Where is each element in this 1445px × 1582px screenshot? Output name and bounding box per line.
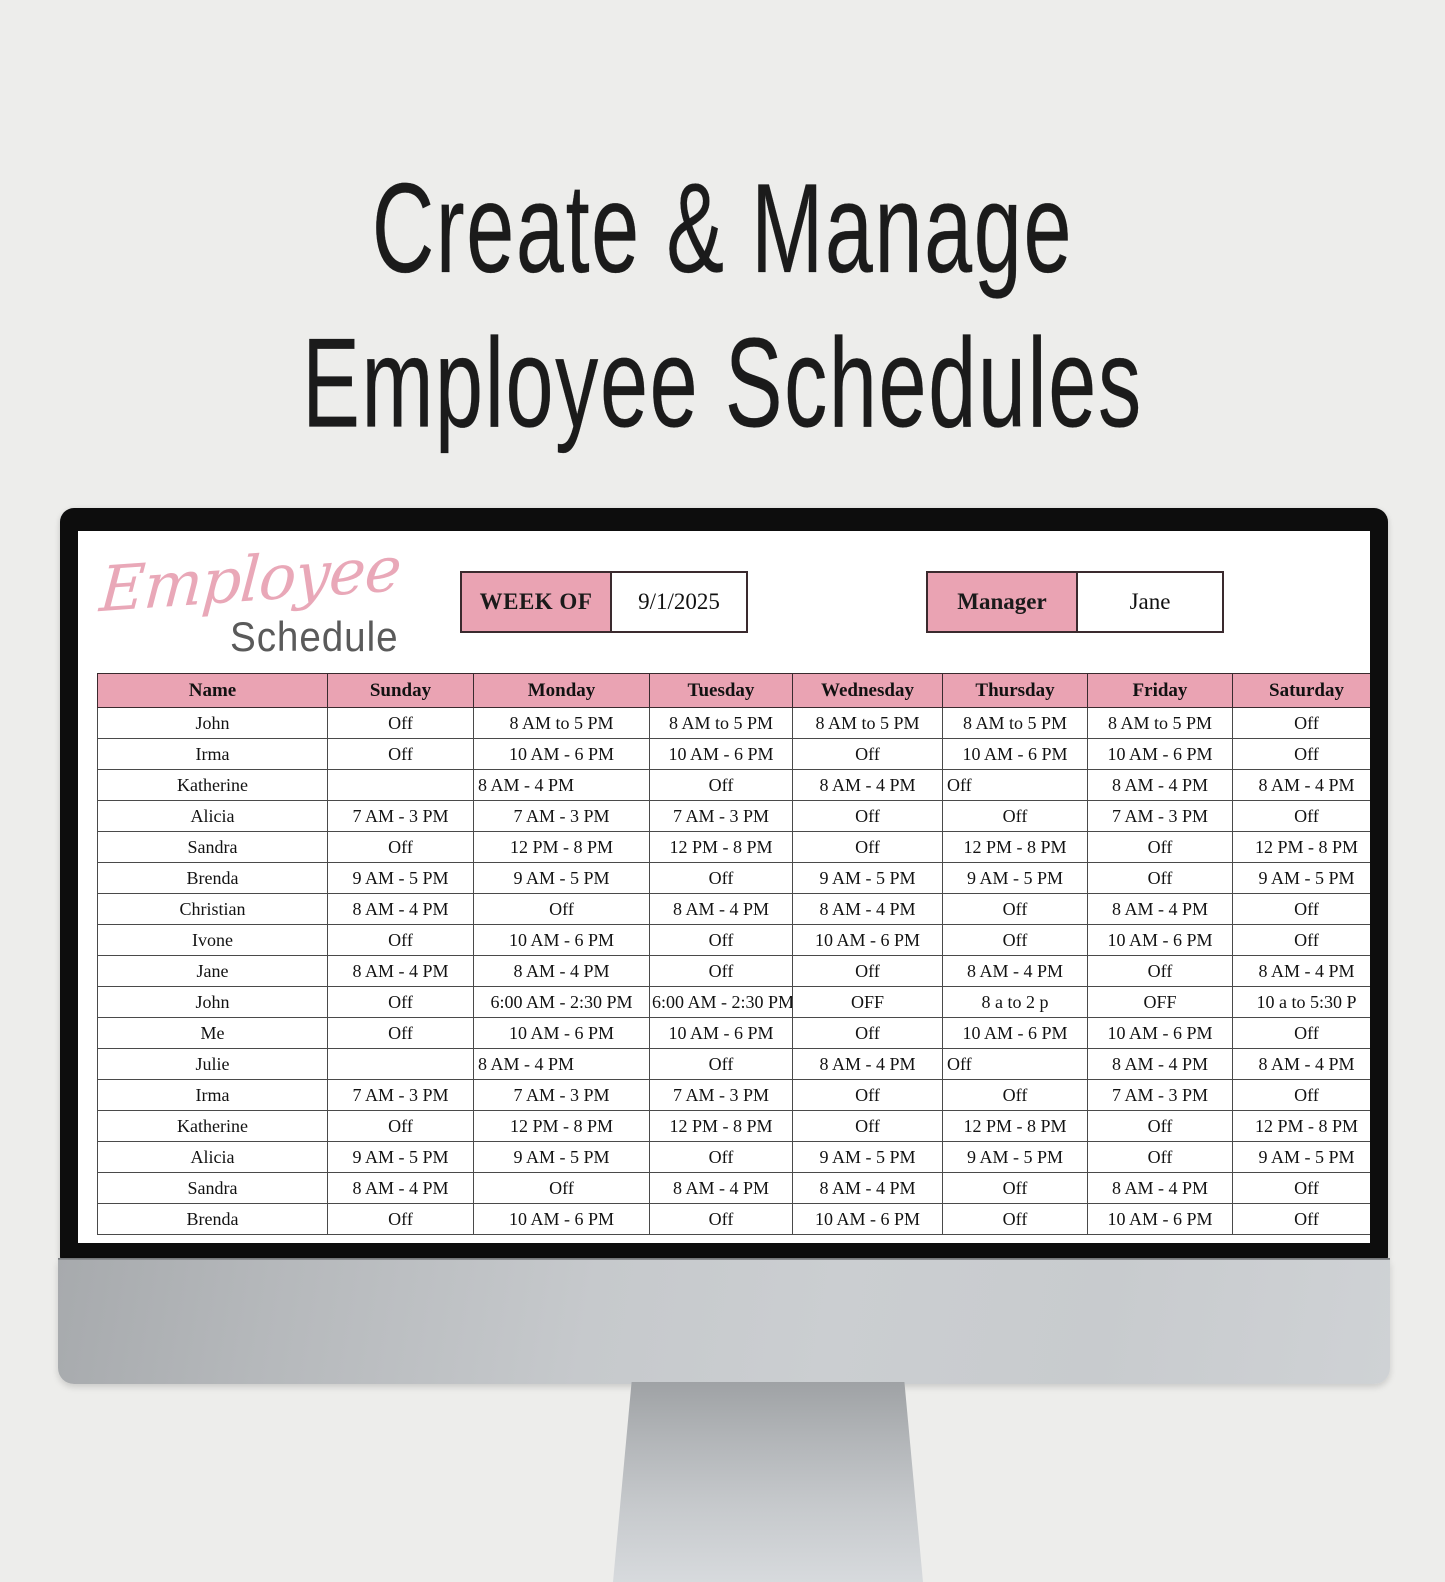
cell-shift-thursday[interactable]: 12 PM - 8 PM — [943, 832, 1088, 863]
cell-shift-friday[interactable]: 7 AM - 3 PM — [1088, 801, 1233, 832]
page-title: Create & Manage Employee Schedules — [0, 150, 1445, 460]
table-row: MeOff10 AM - 6 PM10 AM - 6 PMOff10 AM - … — [98, 1018, 1371, 1049]
cell-shift-wednesday[interactable]: OFF — [793, 987, 943, 1018]
cell-shift-saturday[interactable]: Off — [1233, 1173, 1371, 1204]
cell-shift-tuesday[interactable]: Off — [650, 863, 793, 894]
cell-shift-monday[interactable]: 10 AM - 6 PM — [474, 1204, 650, 1235]
cell-shift-sunday[interactable]: 8 AM - 4 PM — [328, 956, 474, 987]
cell-shift-thursday[interactable]: Off — [943, 770, 1088, 801]
cell-shift-sunday[interactable]: Off — [328, 1018, 474, 1049]
cell-shift-monday[interactable]: 12 PM - 8 PM — [474, 1111, 650, 1142]
cell-shift-friday[interactable]: Off — [1088, 956, 1233, 987]
cell-shift-friday[interactable]: Off — [1088, 1111, 1233, 1142]
cell-employee-name[interactable]: Katherine — [98, 770, 328, 801]
cell-shift-wednesday[interactable]: 10 AM - 6 PM — [793, 925, 943, 956]
cell-shift-saturday[interactable]: Off — [1233, 1080, 1371, 1111]
cell-shift-thursday[interactable]: 9 AM - 5 PM — [943, 1142, 1088, 1173]
column-header-sunday[interactable]: Sunday — [328, 674, 474, 708]
cell-employee-name[interactable]: Sandra — [98, 1173, 328, 1204]
cell-shift-tuesday[interactable]: Off — [650, 956, 793, 987]
cell-shift-wednesday[interactable]: Off — [793, 1111, 943, 1142]
cell-shift-tuesday[interactable]: 6:00 AM - 2:30 PM — [650, 987, 793, 1018]
cell-shift-friday[interactable]: Off — [1088, 863, 1233, 894]
manager-label: Manager — [928, 573, 1078, 631]
cell-shift-wednesday[interactable]: 8 AM to 5 PM — [793, 708, 943, 739]
cell-shift-saturday[interactable]: 8 AM - 4 PM — [1233, 1049, 1371, 1080]
cell-shift-monday[interactable]: Off — [474, 894, 650, 925]
cell-shift-wednesday[interactable]: Off — [793, 1018, 943, 1049]
cell-shift-sunday[interactable] — [328, 770, 474, 801]
cell-shift-sunday[interactable]: 7 AM - 3 PM — [328, 1080, 474, 1111]
cell-shift-thursday[interactable]: 12 PM - 8 PM — [943, 1111, 1088, 1142]
cell-shift-thursday[interactable]: Off — [943, 1080, 1088, 1111]
manager-field-group: Manager Jane — [926, 571, 1224, 633]
table-row: Brenda9 AM - 5 PM9 AM - 5 PMOff9 AM - 5 … — [98, 863, 1371, 894]
cell-shift-tuesday[interactable]: 7 AM - 3 PM — [650, 801, 793, 832]
cell-shift-friday[interactable]: 10 AM - 6 PM — [1088, 1204, 1233, 1235]
cell-shift-tuesday[interactable]: 12 PM - 8 PM — [650, 832, 793, 863]
cell-shift-saturday[interactable]: Off — [1233, 801, 1371, 832]
column-header-tuesday[interactable]: Tuesday — [650, 674, 793, 708]
column-header-thursday[interactable]: Thursday — [943, 674, 1088, 708]
column-header-monday[interactable]: Monday — [474, 674, 650, 708]
cell-shift-saturday[interactable]: Off — [1233, 708, 1371, 739]
cell-shift-saturday[interactable]: 12 PM - 8 PM — [1233, 832, 1371, 863]
table-row: Jane8 AM - 4 PM8 AM - 4 PMOffOff8 AM - 4… — [98, 956, 1371, 987]
cell-shift-saturday[interactable]: 8 AM - 4 PM — [1233, 770, 1371, 801]
cell-shift-tuesday[interactable]: 8 AM - 4 PM — [650, 894, 793, 925]
cell-shift-wednesday[interactable]: 8 AM - 4 PM — [793, 1049, 943, 1080]
cell-shift-thursday[interactable]: Off — [943, 925, 1088, 956]
cell-employee-name[interactable]: Julie — [98, 1049, 328, 1080]
cell-shift-sunday[interactable]: Off — [328, 739, 474, 770]
column-header-wednesday[interactable]: Wednesday — [793, 674, 943, 708]
table-header-row: NameSundayMondayTuesdayWednesdayThursday… — [98, 674, 1371, 708]
cell-shift-monday[interactable]: 12 PM - 8 PM — [474, 832, 650, 863]
cell-shift-saturday[interactable]: Off — [1233, 1018, 1371, 1049]
cell-shift-monday[interactable]: 7 AM - 3 PM — [474, 1080, 650, 1111]
cell-shift-tuesday[interactable]: 10 AM - 6 PM — [650, 1018, 793, 1049]
monitor-screen: Employee Schedule WEEK OF 9/1/2025 Manag… — [78, 531, 1370, 1243]
cell-shift-tuesday[interactable]: 8 AM to 5 PM — [650, 708, 793, 739]
cell-shift-saturday[interactable]: 10 a to 5:30 P — [1233, 987, 1371, 1018]
monitor-chin — [58, 1260, 1390, 1384]
table-row: Alicia7 AM - 3 PM7 AM - 3 PM7 AM - 3 PMO… — [98, 801, 1371, 832]
cell-employee-name[interactable]: Jane — [98, 956, 328, 987]
cell-employee-name[interactable]: Brenda — [98, 1204, 328, 1235]
schedule-table: NameSundayMondayTuesdayWednesdayThursday… — [97, 673, 1370, 1235]
cell-shift-wednesday[interactable]: Off — [793, 832, 943, 863]
cell-shift-sunday[interactable]: Off — [328, 987, 474, 1018]
monitor-stand-neck — [613, 1382, 923, 1582]
cell-shift-monday[interactable]: 10 AM - 6 PM — [474, 925, 650, 956]
cell-employee-name[interactable]: Me — [98, 1018, 328, 1049]
week-of-label: WEEK OF — [462, 573, 612, 631]
cell-shift-tuesday[interactable]: Off — [650, 1142, 793, 1173]
cell-shift-saturday[interactable]: 12 PM - 8 PM — [1233, 1111, 1371, 1142]
cell-shift-sunday[interactable] — [328, 1049, 474, 1080]
cell-shift-monday[interactable]: 8 AM - 4 PM — [474, 770, 650, 801]
monitor-mockup: Employee Schedule WEEK OF 9/1/2025 Manag… — [60, 508, 1388, 1260]
cell-shift-thursday[interactable]: Off — [943, 1204, 1088, 1235]
cell-shift-sunday[interactable]: 9 AM - 5 PM — [328, 863, 474, 894]
cell-shift-tuesday[interactable]: 7 AM - 3 PM — [650, 1080, 793, 1111]
cell-employee-name[interactable]: Christian — [98, 894, 328, 925]
cell-shift-friday[interactable]: Off — [1088, 1142, 1233, 1173]
cell-shift-monday[interactable]: 10 AM - 6 PM — [474, 739, 650, 770]
column-header-name[interactable]: Name — [98, 674, 328, 708]
cell-shift-friday[interactable]: 10 AM - 6 PM — [1088, 739, 1233, 770]
cell-shift-saturday[interactable]: Off — [1233, 925, 1371, 956]
cell-shift-thursday[interactable]: Off — [943, 1173, 1088, 1204]
cell-shift-wednesday[interactable]: 8 AM - 4 PM — [793, 770, 943, 801]
cell-shift-sunday[interactable]: Off — [328, 1111, 474, 1142]
cell-shift-friday[interactable]: 8 AM - 4 PM — [1088, 894, 1233, 925]
cell-shift-wednesday[interactable]: Off — [793, 956, 943, 987]
cell-shift-sunday[interactable]: 7 AM - 3 PM — [328, 801, 474, 832]
cell-employee-name[interactable]: Alicia — [98, 1142, 328, 1173]
cell-shift-saturday[interactable]: Off — [1233, 739, 1371, 770]
cell-employee-name[interactable]: Alicia — [98, 801, 328, 832]
cell-shift-tuesday[interactable]: Off — [650, 925, 793, 956]
cell-shift-sunday[interactable]: 9 AM - 5 PM — [328, 1142, 474, 1173]
cell-shift-wednesday[interactable]: 8 AM - 4 PM — [793, 894, 943, 925]
cell-shift-monday[interactable]: Off — [474, 1173, 650, 1204]
cell-shift-tuesday[interactable]: Off — [650, 1049, 793, 1080]
cell-shift-saturday[interactable]: Off — [1233, 1204, 1371, 1235]
cell-shift-wednesday[interactable]: 9 AM - 5 PM — [793, 1142, 943, 1173]
cell-shift-wednesday[interactable]: 9 AM - 5 PM — [793, 863, 943, 894]
cell-shift-wednesday[interactable]: 10 AM - 6 PM — [793, 1204, 943, 1235]
week-of-field-group: WEEK OF 9/1/2025 — [460, 571, 748, 633]
table-row: Katherine8 AM - 4 PMOff8 AM - 4 PMOff8 A… — [98, 770, 1371, 801]
cell-shift-thursday[interactable]: 10 AM - 6 PM — [943, 1018, 1088, 1049]
spreadsheet-header-area: Employee Schedule WEEK OF 9/1/2025 Manag… — [78, 531, 1370, 673]
cell-shift-monday[interactable]: 6:00 AM - 2:30 PM — [474, 987, 650, 1018]
cell-employee-name[interactable]: Irma — [98, 739, 328, 770]
cell-employee-name[interactable]: Ivone — [98, 925, 328, 956]
cell-shift-monday[interactable]: 8 AM to 5 PM — [474, 708, 650, 739]
cell-shift-thursday[interactable]: 8 AM - 4 PM — [943, 956, 1088, 987]
logo-subtitle-text: Schedule — [230, 615, 398, 659]
cell-shift-wednesday[interactable]: Off — [793, 801, 943, 832]
table-row: BrendaOff10 AM - 6 PMOff10 AM - 6 PMOff1… — [98, 1204, 1371, 1235]
cell-shift-tuesday[interactable]: 8 AM - 4 PM — [650, 1173, 793, 1204]
cell-employee-name[interactable]: John — [98, 708, 328, 739]
cell-shift-sunday[interactable]: 8 AM - 4 PM — [328, 1173, 474, 1204]
cell-shift-sunday[interactable]: 8 AM - 4 PM — [328, 894, 474, 925]
cell-employee-name[interactable]: Katherine — [98, 1111, 328, 1142]
cell-shift-saturday[interactable]: Off — [1233, 894, 1371, 925]
table-row: JohnOff8 AM to 5 PM8 AM to 5 PM8 AM to 5… — [98, 708, 1371, 739]
cell-shift-monday[interactable]: 7 AM - 3 PM — [474, 801, 650, 832]
table-row: IvoneOff10 AM - 6 PMOff10 AM - 6 PMOff10… — [98, 925, 1371, 956]
cell-shift-monday[interactable]: 8 AM - 4 PM — [474, 956, 650, 987]
cell-shift-friday[interactable]: 7 AM - 3 PM — [1088, 1080, 1233, 1111]
table-row: IrmaOff10 AM - 6 PM10 AM - 6 PMOff10 AM … — [98, 739, 1371, 770]
cell-employee-name[interactable]: John — [98, 987, 328, 1018]
cell-shift-thursday[interactable]: 9 AM - 5 PM — [943, 863, 1088, 894]
cell-shift-thursday[interactable]: Off — [943, 801, 1088, 832]
schedule-table-body: JohnOff8 AM to 5 PM8 AM to 5 PM8 AM to 5… — [98, 708, 1371, 1235]
employee-schedule-logo: Employee Schedule — [100, 559, 420, 659]
spreadsheet: Employee Schedule WEEK OF 9/1/2025 Manag… — [78, 531, 1370, 1243]
cell-shift-friday[interactable]: 8 AM - 4 PM — [1088, 770, 1233, 801]
cell-shift-thursday[interactable]: 8 a to 2 p — [943, 987, 1088, 1018]
cell-shift-sunday[interactable]: Off — [328, 832, 474, 863]
cell-shift-monday[interactable]: 10 AM - 6 PM — [474, 1018, 650, 1049]
cell-shift-tuesday[interactable]: 10 AM - 6 PM — [650, 739, 793, 770]
week-of-input[interactable]: 9/1/2025 — [612, 573, 746, 631]
cell-shift-monday[interactable]: 9 AM - 5 PM — [474, 1142, 650, 1173]
table-row: Christian8 AM - 4 PMOff8 AM - 4 PM8 AM -… — [98, 894, 1371, 925]
table-row: KatherineOff12 PM - 8 PM12 PM - 8 PMOff1… — [98, 1111, 1371, 1142]
cell-shift-friday[interactable]: 10 AM - 6 PM — [1088, 925, 1233, 956]
cell-shift-thursday[interactable]: Off — [943, 894, 1088, 925]
cell-shift-monday[interactable]: 9 AM - 5 PM — [474, 863, 650, 894]
table-row: Alicia9 AM - 5 PM9 AM - 5 PMOff9 AM - 5 … — [98, 1142, 1371, 1173]
table-row: Irma7 AM - 3 PM7 AM - 3 PM7 AM - 3 PMOff… — [98, 1080, 1371, 1111]
manager-input[interactable]: Jane — [1078, 573, 1222, 631]
table-row: Sandra8 AM - 4 PMOff8 AM - 4 PM8 AM - 4 … — [98, 1173, 1371, 1204]
cell-shift-thursday[interactable]: 10 AM - 6 PM — [943, 739, 1088, 770]
table-row: JohnOff6:00 AM - 2:30 PM6:00 AM - 2:30 P… — [98, 987, 1371, 1018]
cell-shift-friday[interactable]: 8 AM - 4 PM — [1088, 1049, 1233, 1080]
page-title-line-2: Employee Schedules — [145, 291, 1301, 474]
cell-shift-thursday[interactable]: 8 AM to 5 PM — [943, 708, 1088, 739]
cell-shift-sunday[interactable]: Off — [328, 1204, 474, 1235]
table-row: Julie8 AM - 4 PMOff8 AM - 4 PMOff8 AM - … — [98, 1049, 1371, 1080]
cell-shift-saturday[interactable]: 9 AM - 5 PM — [1233, 1142, 1371, 1173]
column-header-friday[interactable]: Friday — [1088, 674, 1233, 708]
cell-shift-wednesday[interactable]: Off — [793, 1080, 943, 1111]
cell-shift-tuesday[interactable]: Off — [650, 1204, 793, 1235]
cell-employee-name[interactable]: Sandra — [98, 832, 328, 863]
table-row: SandraOff12 PM - 8 PM12 PM - 8 PMOff12 P… — [98, 832, 1371, 863]
cell-employee-name[interactable]: Irma — [98, 1080, 328, 1111]
column-header-saturday[interactable]: Saturday — [1233, 674, 1371, 708]
cell-shift-monday[interactable]: 8 AM - 4 PM — [474, 1049, 650, 1080]
schedule-table-head: NameSundayMondayTuesdayWednesdayThursday… — [98, 674, 1371, 708]
cell-employee-name[interactable]: Brenda — [98, 863, 328, 894]
cell-shift-saturday[interactable]: 8 AM - 4 PM — [1233, 956, 1371, 987]
cell-shift-tuesday[interactable]: Off — [650, 770, 793, 801]
cell-shift-wednesday[interactable]: 8 AM - 4 PM — [793, 1173, 943, 1204]
cell-shift-wednesday[interactable]: Off — [793, 739, 943, 770]
cell-shift-sunday[interactable]: Off — [328, 925, 474, 956]
cell-shift-saturday[interactable]: 9 AM - 5 PM — [1233, 863, 1371, 894]
cell-shift-thursday[interactable]: Off — [943, 1049, 1088, 1080]
cell-shift-sunday[interactable]: Off — [328, 708, 474, 739]
cell-shift-tuesday[interactable]: 12 PM - 8 PM — [650, 1111, 793, 1142]
logo-script-text: Employee — [98, 538, 403, 621]
cell-shift-friday[interactable]: 8 AM to 5 PM — [1088, 708, 1233, 739]
cell-shift-friday[interactable]: 8 AM - 4 PM — [1088, 1173, 1233, 1204]
cell-shift-friday[interactable]: OFF — [1088, 987, 1233, 1018]
cell-shift-friday[interactable]: 10 AM - 6 PM — [1088, 1018, 1233, 1049]
cell-shift-friday[interactable]: Off — [1088, 832, 1233, 863]
